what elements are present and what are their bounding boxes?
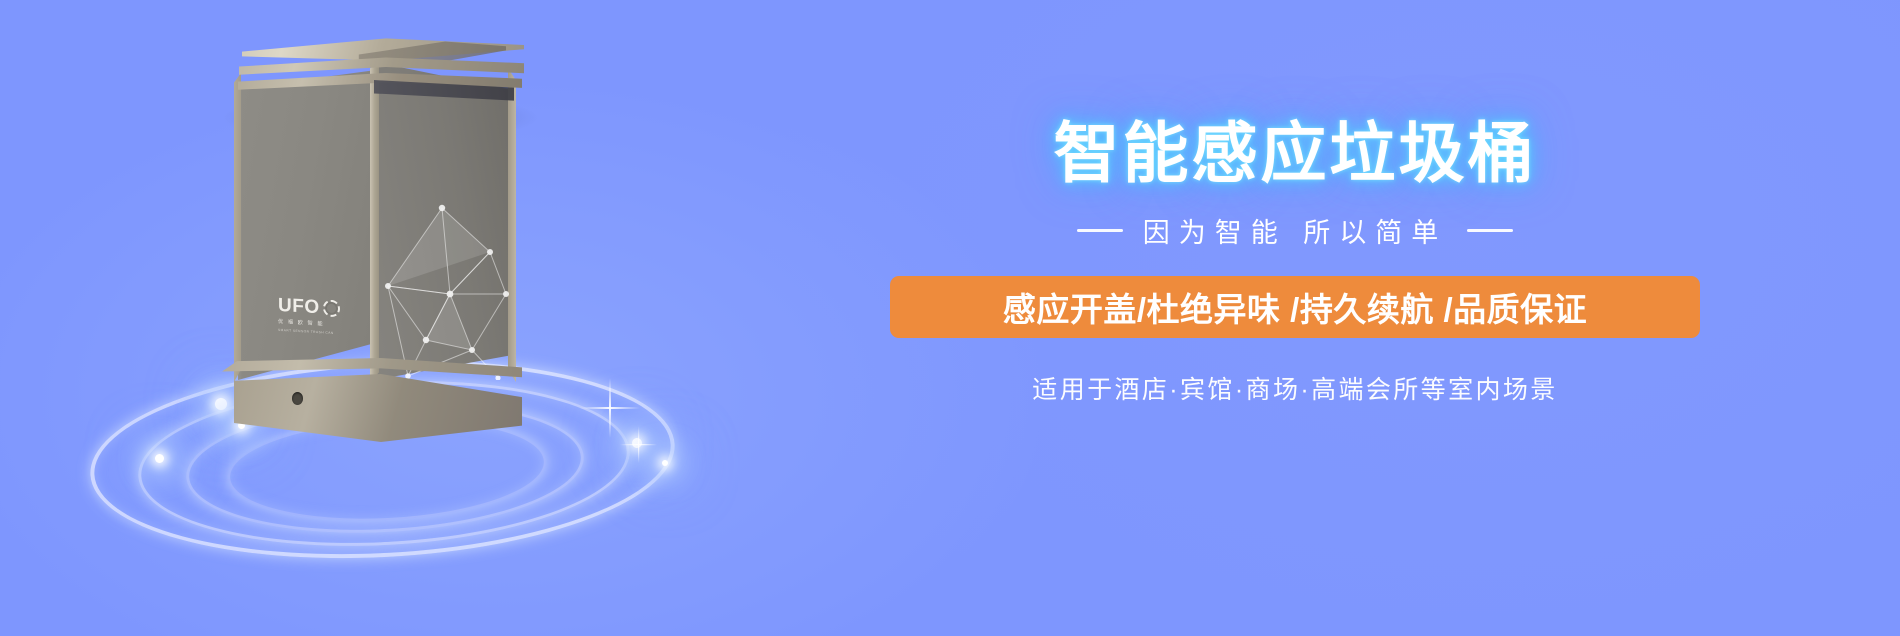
bin-corner-edge	[370, 62, 379, 382]
usage-scenario-caption: 适用于酒店·宾馆·商场·高端会所等室内场景	[880, 370, 1710, 406]
sparkle-dot	[155, 454, 164, 463]
banner-headline: 智能感应垃圾桶	[880, 118, 1710, 189]
brand-circle-icon	[323, 299, 340, 317]
bin-base-body	[222, 374, 522, 442]
sparkle-dot	[662, 460, 668, 466]
bin-sensor-port-icon	[292, 392, 303, 405]
ufo-brand-logo: UFO 优 福 欧 智 能 SMART SENSOR TRASH CAN	[278, 296, 354, 336]
bin-left-edge	[234, 70, 241, 382]
trash-bin-product-image: UFO 优 福 欧 智 能 SMART SENSOR TRASH CAN	[230, 40, 510, 440]
banner-subtitle: 因为智能 所以简单	[1143, 211, 1448, 250]
banner-subtitle-row: 因为智能 所以简单	[880, 211, 1710, 250]
bin-base	[222, 358, 522, 442]
tech-mesh-graphic	[380, 190, 515, 380]
bin-lid	[224, 36, 524, 100]
feature-highlight-banner: 感应开盖/杜绝异味 /持久续航 /品质保证	[890, 276, 1700, 338]
product-scene: UFO 优 福 欧 智 能 SMART SENSOR TRASH CAN	[60, 20, 760, 620]
subtitle-rule-left	[1077, 229, 1123, 232]
product-promo-banner: UFO 优 福 欧 智 能 SMART SENSOR TRASH CAN	[0, 0, 1900, 636]
bin-front-face	[238, 70, 376, 380]
marketing-copy-block: 智能感应垃圾桶 因为智能 所以简单 感应开盖/杜绝异味 /持久续航 /品质保证 …	[880, 118, 1710, 406]
feature-highlight-text: 感应开盖/杜绝异味 /持久续航 /品质保证	[1003, 283, 1587, 331]
subtitle-rule-right	[1467, 229, 1513, 232]
brand-wordmark: UFO	[278, 296, 320, 317]
